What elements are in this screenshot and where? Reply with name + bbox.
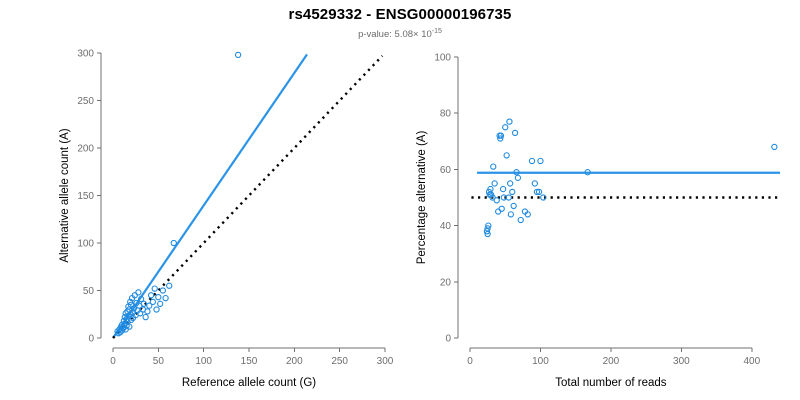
data-point: [518, 217, 523, 222]
data-point: [148, 293, 153, 298]
data-point: [503, 125, 508, 130]
y-tick-label: 0: [88, 334, 94, 345]
y-tick-label: 100: [77, 239, 94, 250]
x-tick-label: 300: [377, 356, 394, 367]
y-tick-label: 20: [440, 277, 452, 288]
data-point: [508, 181, 513, 186]
right-plot-svg: 0100200300400020406080100Total number of…: [400, 0, 800, 400]
y-axis-title: Percentage alternative (A): [416, 131, 428, 265]
data-point: [152, 286, 157, 291]
y-tick-label: 0: [445, 334, 451, 345]
data-point: [154, 307, 159, 312]
scatter-panel-percentage-vs-reads: 0100200300400020406080100Total number of…: [400, 0, 800, 400]
data-point: [501, 186, 506, 191]
scatter-panel-reference-vs-alternative: 050100150200250300050100150200250300Refe…: [0, 0, 400, 400]
axes-layer: 050100150200250300050100150200250300Refe…: [59, 49, 394, 390]
data-point: [772, 144, 777, 149]
data-point: [143, 315, 148, 320]
data-layer: [113, 52, 382, 338]
y-tick-label: 300: [77, 49, 94, 60]
data-point: [156, 295, 161, 300]
data-point: [504, 153, 509, 158]
data-point: [508, 212, 513, 217]
fitted-regression-line: [113, 54, 307, 338]
data-point: [496, 209, 501, 214]
data-point: [492, 181, 497, 186]
x-axis-title: Reference allele count (G): [182, 377, 316, 389]
data-point: [136, 290, 141, 295]
x-tick-label: 50: [153, 356, 165, 367]
left-plot-svg: 050100150200250300050100150200250300Refe…: [0, 0, 400, 400]
data-point: [538, 158, 543, 163]
figure-root: rs4529332 - ENSG00000196735 p-value: 5.0…: [0, 0, 800, 400]
y-tick-label: 40: [440, 221, 452, 232]
x-tick-label: 0: [110, 356, 116, 367]
data-point: [499, 206, 504, 211]
data-point: [510, 189, 515, 194]
x-axis-title: Total number of reads: [555, 377, 666, 389]
axes-layer: 0100200300400020406080100Total number of…: [416, 53, 761, 390]
y-tick-label: 60: [440, 165, 452, 176]
y-tick-label: 200: [77, 144, 94, 155]
x-tick-label: 0: [467, 356, 473, 367]
data-point: [532, 181, 537, 186]
data-point: [145, 309, 150, 314]
data-point: [158, 301, 163, 306]
x-tick-label: 250: [331, 356, 348, 367]
y-tick-label: 50: [83, 286, 95, 297]
y-tick-label: 100: [434, 53, 451, 64]
y-tick-label: 150: [77, 191, 94, 202]
data-point: [507, 119, 512, 124]
data-point: [171, 240, 176, 245]
data-layer: [471, 119, 780, 237]
data-point: [163, 296, 168, 301]
x-tick-label: 300: [673, 356, 690, 367]
y-tick-label: 80: [440, 109, 452, 120]
data-point: [494, 198, 499, 203]
x-tick-label: 100: [532, 356, 549, 367]
data-point: [511, 203, 516, 208]
data-point: [167, 283, 172, 288]
x-tick-label: 400: [743, 356, 760, 367]
data-point: [512, 130, 517, 135]
data-point: [160, 288, 165, 293]
x-tick-label: 200: [603, 356, 620, 367]
data-point: [491, 164, 496, 169]
x-tick-label: 100: [195, 356, 212, 367]
y-tick-label: 250: [77, 96, 94, 107]
data-point: [529, 158, 534, 163]
data-point: [236, 52, 241, 57]
y-axis-title: Alternative allele count (A): [59, 128, 71, 262]
x-tick-label: 150: [241, 356, 258, 367]
data-point: [150, 299, 155, 304]
x-tick-label: 200: [286, 356, 303, 367]
data-point: [515, 175, 520, 180]
